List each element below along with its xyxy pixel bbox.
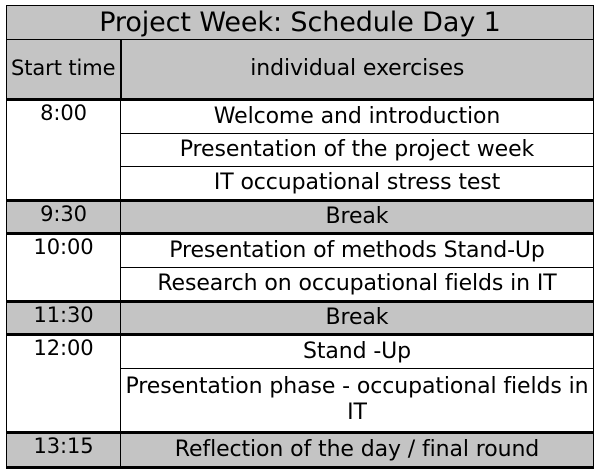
activity-cell: Break	[121, 302, 594, 335]
activity-cell: Stand -Up	[121, 335, 594, 369]
column-header-start-time: Start time	[7, 40, 121, 100]
activity-cell: Presentation of the project week	[121, 134, 594, 167]
schedule-sheet: Project Week: Schedule Day 1 Start time …	[0, 0, 600, 455]
table-row: 10:00 Presentation of methods Stand-Up	[7, 234, 594, 268]
activity-cell: IT occupational stress test	[121, 167, 594, 201]
start-time-cell: 10:00	[7, 234, 121, 302]
activity-cell: Presentation phase - occupational fields…	[121, 369, 594, 433]
activity-cell: Presentation of methods Stand-Up	[121, 234, 594, 268]
schedule-table: Project Week: Schedule Day 1 Start time …	[6, 5, 594, 469]
activity-cell: Break	[121, 201, 594, 234]
table-row: 12:00 Stand -Up	[7, 335, 594, 369]
activity-cell: Welcome and introduction	[121, 100, 594, 134]
table-row: 11:30 Break	[7, 302, 594, 335]
activity-cell: Research on occupational fields in IT	[121, 268, 594, 302]
start-time-cell: 8:00	[7, 100, 121, 201]
activity-cell: Reflection of the day / final round	[121, 433, 594, 468]
start-time-cell: 11:30	[7, 302, 121, 335]
page-title: Project Week: Schedule Day 1	[7, 6, 594, 40]
table-row: 9:30 Break	[7, 201, 594, 234]
header-row: Start time individual exercises	[7, 40, 594, 100]
table-row: 8:00 Welcome and introduction	[7, 100, 594, 134]
start-time-cell: 12:00	[7, 335, 121, 433]
title-row: Project Week: Schedule Day 1	[7, 6, 594, 40]
start-time-cell: 9:30	[7, 201, 121, 234]
column-header-exercises: individual exercises	[121, 40, 594, 100]
start-time-cell: 13:15	[7, 433, 121, 468]
table-row: 13:15 Reflection of the day / final roun…	[7, 433, 594, 468]
